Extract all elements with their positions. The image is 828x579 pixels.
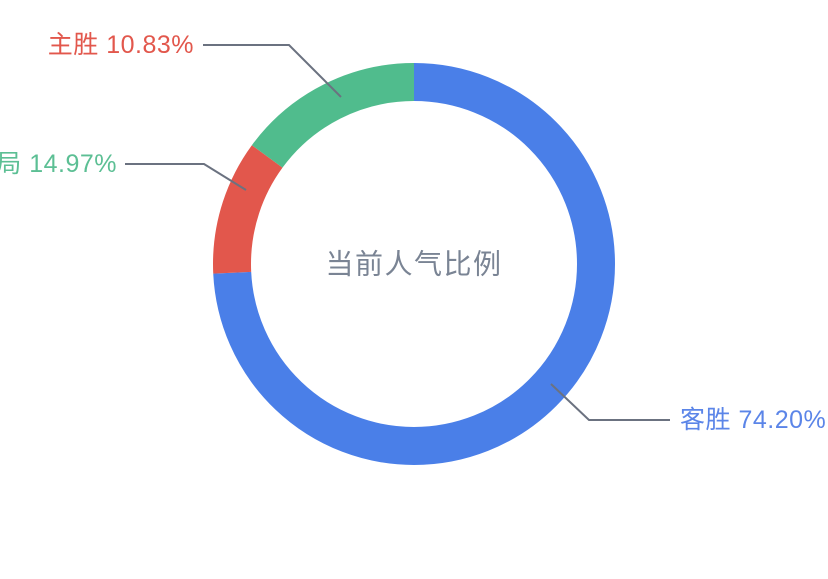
label-draw: 平局 14.97%	[0, 150, 117, 178]
label-home-win: 主胜 10.83%	[48, 31, 194, 59]
donut-chart-svg: 当前人气比例 主胜 10.83% 平局 14.97% 客胜 74.20%	[0, 0, 828, 579]
donut-chart-container: 当前人气比例 主胜 10.83% 平局 14.97% 客胜 74.20%	[0, 0, 828, 579]
label-away-win: 客胜 74.20%	[680, 406, 826, 434]
donut-center-label: 当前人气比例	[325, 249, 502, 280]
